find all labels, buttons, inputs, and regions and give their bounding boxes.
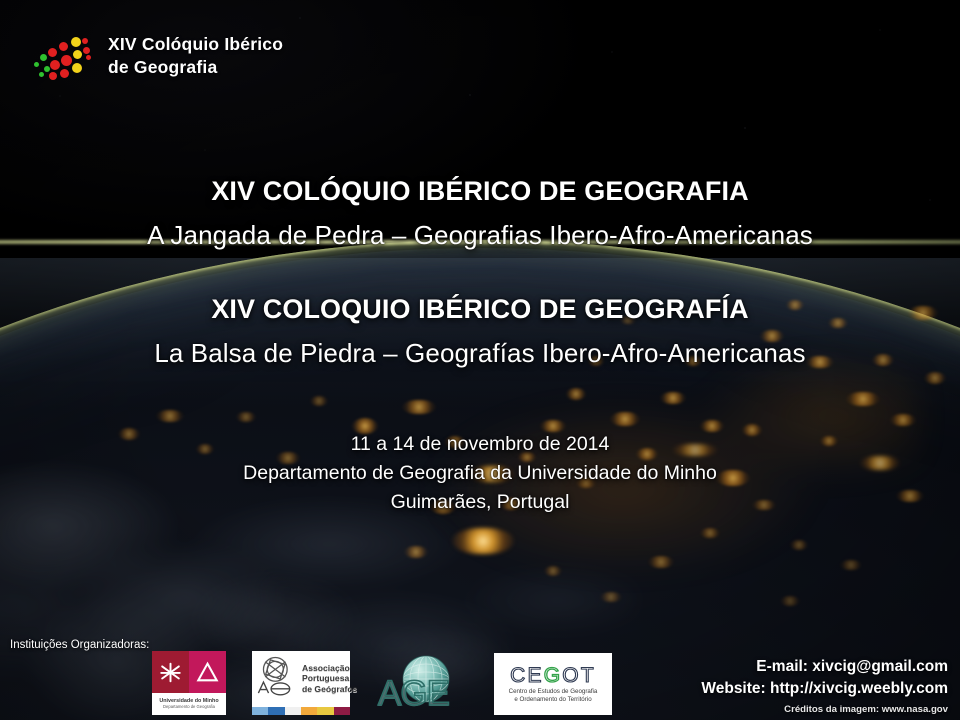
title-portuguese-main: XIV COLÓQUIO IBÉRICO DE GEOGRAFIA	[0, 176, 960, 207]
apg-stripe	[334, 707, 350, 715]
apg-word3: de Geógrafos	[302, 685, 357, 695]
city-light-glow	[310, 396, 328, 406]
apg-knot-icon	[255, 654, 299, 705]
cegot-subtitle-line1: Centro de Estudos de Geografia	[509, 688, 598, 696]
city-light-glow	[402, 400, 436, 414]
logo-dot	[59, 42, 68, 51]
event-logo-line1: XIV Colóquio Ibérico	[108, 33, 283, 56]
contact-website[interactable]: Website: http://xivcig.weebly.com	[701, 678, 948, 700]
image-credits: Créditos da imagem: www.nasa.gov	[784, 704, 948, 715]
venue-block: 11 a 14 de novembro de 2014 Departamento…	[0, 430, 960, 517]
apg-color-stripes	[252, 707, 350, 715]
title-portuguese-subtitle: A Jangada de Pedra – Geografias Ibero-Af…	[0, 220, 960, 251]
title-spanish-subtitle: La Balsa de Piedra – Geografías Ibero-Af…	[0, 338, 960, 369]
logo-dot	[71, 37, 81, 47]
logo-dot	[50, 60, 60, 70]
logo-dot	[49, 72, 57, 80]
city-light-glow	[780, 596, 800, 606]
uminho-caption: Universidade do Minho Departamento de Ge…	[152, 693, 226, 715]
city-light-glow	[700, 528, 720, 538]
apg-stripe	[268, 707, 284, 715]
poster-root: XIV Colóquio Ibérico de Geografia XIV CO…	[0, 0, 960, 720]
apg-stripe	[252, 707, 268, 715]
city-light-glow	[840, 560, 862, 570]
contact-email[interactable]: E-mail: xivcig@gmail.com	[701, 656, 948, 678]
uminho-triangle-icon	[189, 651, 226, 693]
logo-dot	[60, 69, 69, 78]
apg-wordmark: Associação Portuguesa de Geógrafos	[302, 664, 357, 695]
title-spanish-main: XIV COLOQUIO IBÉRICO DE GEOGRAFÍA	[0, 294, 960, 325]
city-light-glow	[890, 414, 916, 426]
organizers-label: Instituições Organizadoras:	[10, 639, 149, 651]
contact-block: E-mail: xivcig@gmail.com Website: http:/…	[701, 656, 948, 700]
logo-dot	[86, 55, 91, 60]
logo-dot	[34, 62, 39, 67]
cegot-letters-ot: OT	[562, 665, 596, 686]
logo-dot	[72, 63, 82, 73]
logo-dot	[48, 48, 57, 57]
cegot-subtitle-line2: e Ordenamento do Território	[509, 696, 598, 704]
city-light-glow	[790, 540, 808, 550]
footer: Instituições Organizadoras:	[0, 632, 960, 720]
event-dates: 11 a 14 de novembro de 2014	[0, 430, 960, 459]
city-light-glow	[660, 392, 686, 404]
event-department: Departamento de Geografia da Universidad…	[0, 459, 960, 488]
cegot-letters-ce: CE	[510, 665, 544, 686]
city-light-glow	[566, 388, 586, 400]
age-wordmark: AGE	[378, 676, 449, 711]
stone-raft-dots-icon	[30, 28, 94, 84]
apg-body: Associação Portuguesa de Geógrafos	[252, 651, 350, 707]
city-light-glow	[924, 372, 946, 384]
logo-dot	[82, 38, 88, 44]
logo-dot	[83, 47, 90, 54]
city-light-glow	[846, 392, 880, 406]
uminho-caption-line2: Departamento de Geografia	[163, 705, 215, 710]
event-logo-text: XIV Colóquio Ibérico de Geografia	[108, 33, 283, 79]
cegot-wordmark: CE G OT	[510, 665, 596, 686]
apg-stripe	[317, 707, 333, 715]
uminho-star-icon	[152, 651, 189, 693]
logo-dot	[61, 55, 72, 66]
logo-asociacion-geografos-espanoles[interactable]: AGE	[376, 651, 468, 715]
logo-cegot[interactable]: CE G OT Centro de Estudos de Geografia e…	[494, 653, 612, 715]
logo-universidade-do-minho[interactable]: Universidade do Minho Departamento de Ge…	[152, 651, 226, 715]
uminho-emblem	[152, 651, 226, 693]
cegot-subtitle: Centro de Estudos de Geografia e Ordenam…	[509, 688, 598, 704]
apg-stripe	[301, 707, 317, 715]
logo-dot	[40, 54, 47, 61]
event-city: Guimarães, Portugal	[0, 488, 960, 517]
logo-associacao-portuguesa-geografos[interactable]: Associação Portuguesa de Geógrafos	[252, 651, 350, 715]
event-logo: XIV Colóquio Ibérico de Geografia	[30, 28, 283, 84]
apg-word1: Associação	[302, 664, 357, 674]
organizer-logos: Universidade do Minho Departamento de Ge…	[152, 651, 612, 715]
apg-word2: Portuguesa	[302, 674, 357, 684]
apg-stripe	[285, 707, 301, 715]
city-light-glow	[648, 556, 674, 568]
event-logo-line2: de Geografia	[108, 56, 283, 79]
logo-dot	[44, 66, 50, 72]
cegot-letter-g: G	[544, 665, 563, 686]
logo-dot	[39, 72, 44, 77]
logo-dot	[73, 50, 82, 59]
